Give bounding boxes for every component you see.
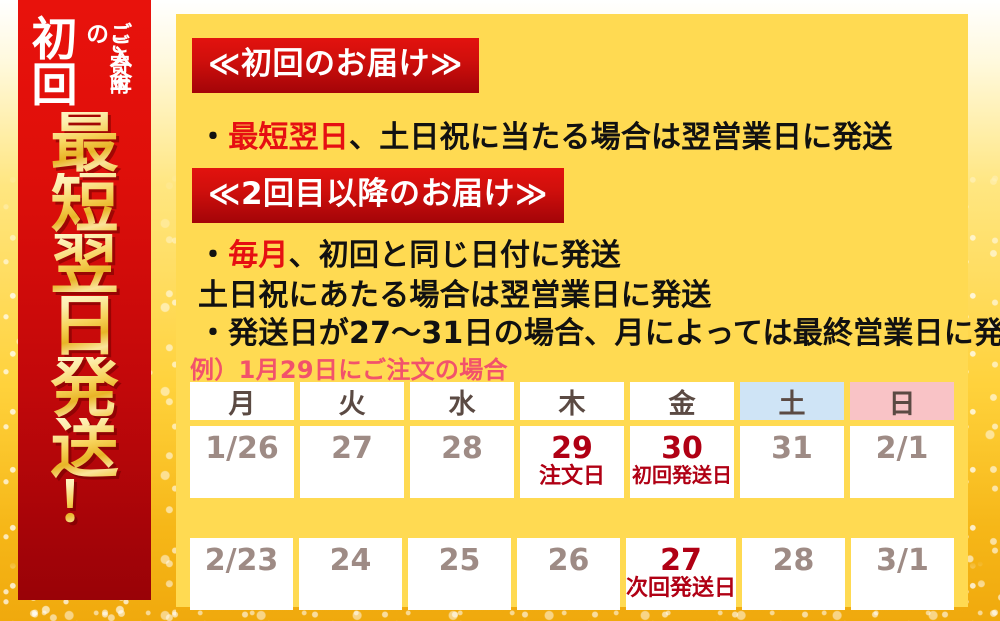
- day-label: 初回発送日: [632, 464, 732, 487]
- day-label: 注文日: [539, 464, 605, 489]
- weekday-header-fri: 金: [630, 382, 734, 420]
- day-number: 26: [548, 544, 590, 577]
- example-note: 例）1月29日にご注文の場合: [190, 350, 508, 385]
- weekday-header-tue: 火: [300, 382, 404, 420]
- calendar-day-cell: 25: [408, 538, 511, 610]
- bullet-marker: ・: [198, 316, 228, 351]
- content-panel: ≪初回のお届け≫ ・最短翌日、土日祝に当たる場合は翌営業日に発送 ≪2回目以降の…: [176, 14, 968, 607]
- day-number: 28: [773, 544, 815, 577]
- day-number: 2/1: [876, 432, 929, 465]
- section-heading-first-delivery: ≪初回のお届け≫: [192, 38, 479, 93]
- kicker-small-text-2: ご寄附: [108, 34, 128, 94]
- subsequent-delivery-line-1: ・毎月、初回と同じ日付に発送: [198, 230, 621, 274]
- calendar-day-cell: 28: [410, 426, 514, 498]
- kicker-large-char-1: 初: [24, 16, 84, 62]
- section-heading-subsequent-delivery: ≪2回目以降のお届け≫: [192, 168, 564, 223]
- calendar-day-cell: 31: [740, 426, 844, 498]
- day-number: 25: [439, 544, 481, 577]
- vertical-headline: 最 短 翌 日 発 送 ！: [18, 112, 151, 582]
- calendar-day-cell: 3/1: [851, 538, 954, 610]
- day-number: 24: [330, 544, 372, 577]
- day-number: 1/26: [205, 432, 279, 465]
- bullet-marker: ・: [198, 238, 228, 273]
- calendar-day-cell-first-shipment: 30 初回発送日: [630, 426, 734, 498]
- calendar-day-cell: 26: [517, 538, 620, 610]
- calendar-week-row-2: 2/23 24 25 26 27 次回発送日: [190, 538, 954, 610]
- calendar-day-cell: 2/1: [850, 426, 954, 498]
- line-rest-text: 、初回と同じ日付に発送: [289, 238, 621, 273]
- calendar-day-cell-next-shipment: 27 次回発送日: [626, 538, 736, 610]
- calendar-week-row-1: 1/26 27 28 29 注文日 30 初回発送日: [190, 426, 954, 498]
- calendar: 月 火 水 木 金 土 日 1/26 27 28: [190, 382, 954, 610]
- calendar-day-cell: 1/26: [190, 426, 294, 498]
- line-rest-text: 、土日祝に当たる場合は翌営業日に発送: [349, 120, 893, 155]
- weekday-header-sun: 日: [850, 382, 954, 420]
- day-number: 30: [661, 432, 703, 465]
- day-number: 27: [331, 432, 373, 465]
- banner-kicker: 初 回 ご入金の ご寄附: [18, 14, 151, 110]
- calendar-day-cell: 24: [299, 538, 402, 610]
- weekday-header-sat: 土: [740, 382, 844, 420]
- day-number: 27: [660, 544, 702, 577]
- highlight-text: 最短翌日: [228, 120, 349, 155]
- line-rest-text: 発送日が27〜31日の場合、月によっては最終営業日に発送: [228, 316, 1000, 351]
- day-label: 次回発送日: [626, 576, 736, 601]
- calendar-header-row: 月 火 水 木 金 土 日: [190, 382, 954, 420]
- weekday-header-wed: 水: [410, 382, 514, 420]
- day-number: 29: [551, 432, 593, 465]
- subsequent-delivery-line-3: ・発送日が27〜31日の場合、月によっては最終営業日に発送: [198, 308, 1000, 352]
- weekday-header-mon: 月: [190, 382, 294, 420]
- calendar-day-cell: 27: [300, 426, 404, 498]
- kicker-large-char-2: 回: [24, 62, 84, 108]
- calendar-day-cell: 2/23: [190, 538, 293, 610]
- calendar-day-cell-order-date: 29 注文日: [520, 426, 624, 498]
- day-number: 3/1: [876, 544, 929, 577]
- day-number: 31: [771, 432, 813, 465]
- promo-banner: 初 回 ご入金の ご寄附 最 短 翌 日 発 送 ！ ≪初回のお届け≫ ・最短翌…: [0, 0, 1000, 621]
- weekday-header-thu: 木: [520, 382, 624, 420]
- calendar-day-cell: 28: [742, 538, 845, 610]
- headline-exclamation: ！: [55, 479, 113, 524]
- day-number: 2/23: [205, 544, 279, 577]
- day-number: 28: [441, 432, 483, 465]
- left-red-banner: 初 回 ご入金の ご寄附 最 短 翌 日 発 送 ！: [18, 0, 151, 600]
- kicker-large-text: 初 回: [24, 16, 84, 108]
- first-delivery-line-1: ・最短翌日、土日祝に当たる場合は翌営業日に発送: [198, 112, 893, 156]
- bullet-marker: ・: [198, 120, 228, 155]
- highlight-text: 毎月: [228, 238, 288, 273]
